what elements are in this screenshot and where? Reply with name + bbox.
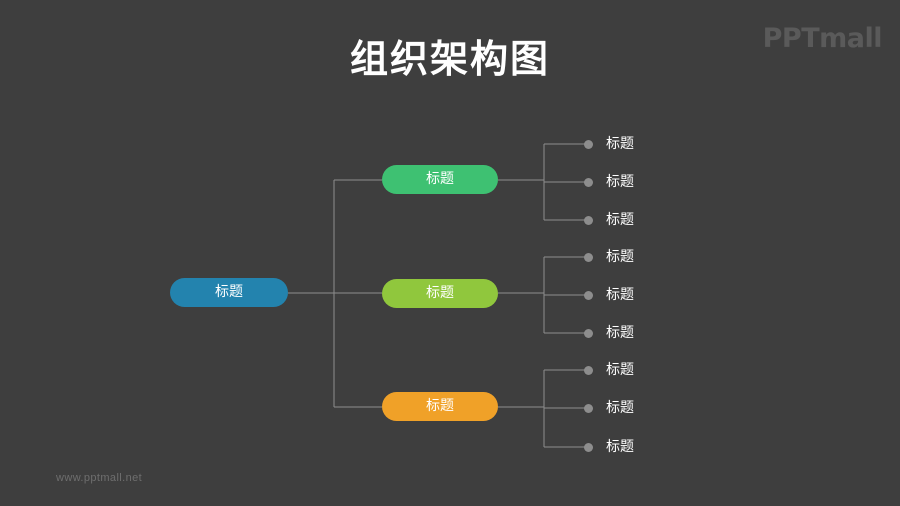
leaf-label: 标题: [606, 247, 634, 267]
leaf-node-2-3[interactable]: 标题: [584, 323, 634, 343]
bullet-dot-icon: [584, 291, 593, 300]
leaf-node-1-1[interactable]: 标题: [584, 134, 634, 154]
leaf-node-3-2[interactable]: 标题: [584, 398, 634, 418]
leaf-label: 标题: [606, 172, 634, 192]
leaf-label: 标题: [606, 398, 634, 418]
leaf-node-1-2[interactable]: 标题: [584, 172, 634, 192]
leaf-node-3-1[interactable]: 标题: [584, 360, 634, 380]
bullet-dot-icon: [584, 404, 593, 413]
bullet-dot-icon: [584, 329, 593, 338]
leaf-label: 标题: [606, 323, 634, 343]
bullet-dot-icon: [584, 216, 593, 225]
node-branch-1[interactable]: 标题: [382, 165, 498, 194]
bullet-dot-icon: [584, 443, 593, 452]
connector-lines: [0, 0, 900, 506]
node-root[interactable]: 标题: [170, 278, 288, 307]
leaf-label: 标题: [606, 285, 634, 305]
leaf-label: 标题: [606, 210, 634, 230]
leaf-node-2-1[interactable]: 标题: [584, 247, 634, 267]
node-branch-2[interactable]: 标题: [382, 279, 498, 308]
leaf-label: 标题: [606, 437, 634, 457]
leaf-node-1-3[interactable]: 标题: [584, 210, 634, 230]
node-branch-3[interactable]: 标题: [382, 392, 498, 421]
bullet-dot-icon: [584, 253, 593, 262]
leaf-label: 标题: [606, 360, 634, 380]
org-chart-diagram: 标题 标题 标题 标题 标题 标题 标题 标题 标题 标题: [0, 0, 900, 506]
bullet-dot-icon: [584, 178, 593, 187]
slide-canvas: 组织架构图 PPTmall www.pptmall.net: [0, 0, 900, 506]
leaf-node-2-2[interactable]: 标题: [584, 285, 634, 305]
leaf-node-3-3[interactable]: 标题: [584, 437, 634, 457]
bullet-dot-icon: [584, 366, 593, 375]
leaf-label: 标题: [606, 134, 634, 154]
bullet-dot-icon: [584, 140, 593, 149]
